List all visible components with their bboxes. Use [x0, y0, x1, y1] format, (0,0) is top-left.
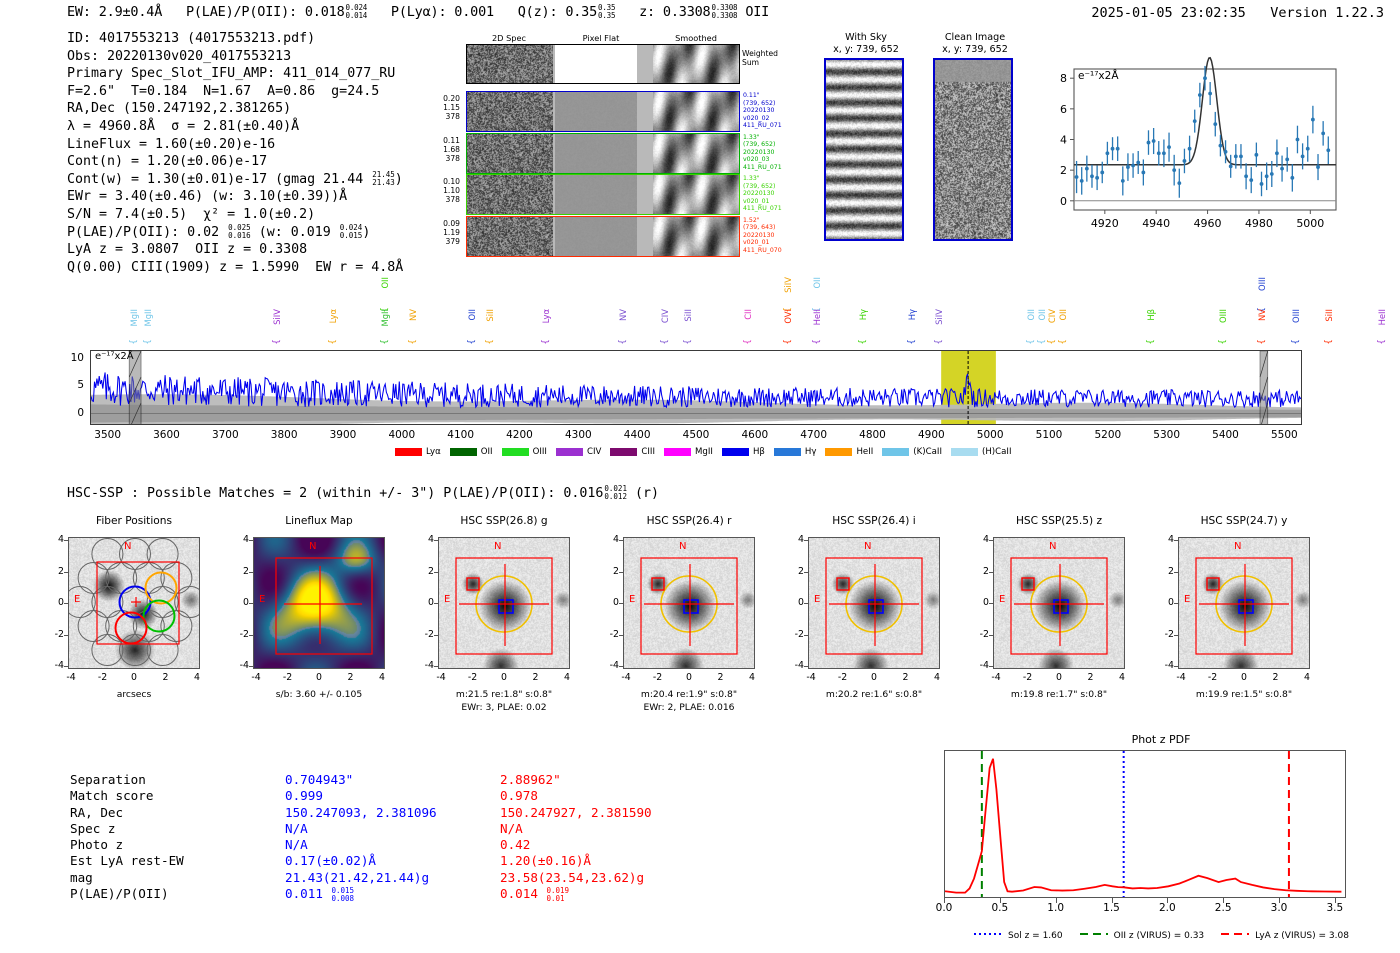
spectrum-line-brace-6: { [408, 339, 418, 345]
cutout-ytick-mark-4-4 [804, 540, 808, 541]
hsc-plae-lo: 0.012 [604, 493, 627, 501]
cutout-ytick-mark-4-3 [804, 572, 808, 573]
spectrum-line-label-OII-7: OII [467, 309, 477, 321]
cutout-caption-2: m:21.5 re:1.8" s:0.8"EWr: 3, PLAE: 0.02 [410, 688, 598, 714]
cutout-ytick-mark-1-3 [249, 572, 253, 573]
cutout-xtick-0-4: 4 [189, 672, 205, 683]
cutout-xtick-3-2: 0 [681, 672, 697, 683]
compass-north-3: N [679, 541, 686, 552]
match-blue-1: 0.999 [285, 788, 500, 804]
match-label-1: Match score [70, 788, 285, 804]
cutout-title-0: Fiber Positions [46, 515, 222, 527]
sky-panel-coords-1: x, y: 739, 652 [942, 44, 1008, 55]
cutout-ytick-mark-1-0 [249, 666, 253, 667]
legend-swatch-Hβ [722, 448, 749, 456]
legend-label-Lyα: Lyα [426, 447, 441, 457]
spectrum-xtick-4500: 4500 [683, 429, 710, 441]
cutout-ytick-5-0: -4 [971, 660, 989, 671]
spectrum-legend-item-CIV: CIV [556, 447, 601, 457]
cutout-ytick-mark-6-4 [1174, 540, 1178, 541]
full-spectrum-panel: MgII{MgII{SiIV{Lyα{OII{MgII{NV{OII{SiII{… [0, 265, 1400, 475]
match-table-row: Est LyA rest-EW0.17(±0.02)Å1.20(±0.16)Å [70, 853, 652, 869]
legend-swatch-Hγ [774, 448, 801, 456]
compass-north-5: N [1049, 541, 1056, 552]
cutout-xtick-2-2: 0 [496, 672, 512, 683]
pdf-xtick-mark-3.5 [1335, 898, 1336, 903]
spectrum-line-label-OII-21: OII [1026, 309, 1036, 321]
cutout-ytick-2-1: -2 [416, 629, 434, 640]
header-plya: P(Lyα): 0.001 [391, 4, 494, 20]
spec2d-row-1 [466, 133, 740, 174]
match-label-3: Spec z [70, 821, 285, 837]
cutout-ytick-mark-2-1 [434, 635, 438, 636]
cutout-ytick-mark-5-3 [989, 572, 993, 573]
cutout-ytick-3-3: 2 [601, 566, 619, 577]
spectrum-legend-item-OII: OII [450, 447, 493, 457]
pdf-xtick-3.5: 3.5 [1326, 902, 1343, 914]
legend-swatch-HeII [825, 448, 852, 456]
phot-z-pdf-panel: Phot z PDF 0.00.51.01.52.02.53.03.5 Sol … [930, 733, 1392, 948]
spectrum-line-label-OII-22: OII [1037, 309, 1047, 321]
spectrum-line-label-OIII-27: OIII [1257, 277, 1267, 291]
cutout-ytick-mark-6-2 [1174, 603, 1178, 604]
spectrum-line-label-NV-28: NV [1257, 309, 1267, 321]
legend-swatch-CIV [556, 448, 583, 456]
sky-panel-coords-0: x, y: 739, 652 [833, 44, 899, 55]
cutout-xtick-0-1: -2 [95, 672, 111, 683]
summary-header: EW: 2.9±0.4Å P(LAE)/P(OII): 0.0180.0240.… [67, 4, 769, 20]
cutout-ytick-mark-1-2 [249, 603, 253, 604]
spectrum-xtick-3500: 3500 [94, 429, 121, 441]
info-line-6: LineFlux = 1.60(±0.20)e-16 [67, 136, 403, 154]
cutout-caption-6: m:19.9 re:1.5" s:0.8" [1150, 688, 1338, 701]
header-qz-label: Q(z): [518, 4, 558, 20]
cutout-image-4[interactable] [808, 537, 940, 669]
spec2d-col-header-2: Smoothed [652, 33, 740, 43]
cutout-image-5[interactable] [993, 537, 1125, 669]
cutout-xtick-6-2: 0 [1236, 672, 1252, 683]
pdf-xtick-1.5: 1.5 [1103, 902, 1120, 914]
cutout-ytick-5-4: 4 [971, 534, 989, 545]
legend-swatch-Lyα [395, 448, 422, 456]
legend-label-Hβ: Hβ [753, 447, 765, 457]
cutout-ytick-mark-5-1 [989, 635, 993, 636]
spectrum-line-label-HeII-17: HeII [812, 309, 822, 325]
match-table-row: Spec zN/AN/A [70, 821, 652, 837]
spectrum-line-brace-11: { [660, 339, 670, 345]
match-red-5: 1.20(±0.16)Å [500, 853, 652, 869]
info-line-8: Cont(w) = 1.30(±0.01)e-17 (gmag 21.44 21… [67, 171, 403, 189]
cutout-xtick-4-3: 2 [898, 672, 914, 683]
spectrum-xtick-4200: 4200 [506, 429, 533, 441]
cutout-ytick-mark-3-3 [619, 572, 623, 573]
pdf-xtick-2.0: 2.0 [1159, 902, 1176, 914]
cutout-xtick-1-4: 4 [374, 672, 390, 683]
spectrum-line-brace-15: { [783, 339, 793, 345]
spec2d-weighted-sum-strip [466, 44, 740, 84]
cutout-caption-4: m:20.2 re:1.6" s:0.8" [780, 688, 968, 701]
pdf-legend-item-0: Sol z = 1.60 [973, 929, 1063, 942]
spectrum-line-brace-28: { [1257, 339, 1267, 345]
spectrum-line-label-Lyα-3: Lyα [328, 309, 338, 323]
header-z-label: z: [639, 4, 655, 20]
spectrum-line-label-OII-4: OII [380, 277, 390, 289]
match-blue-0: 0.704943" [285, 772, 500, 788]
header-z-lo: 0.3308 [711, 12, 737, 20]
spectrum-xtick-5300: 5300 [1153, 429, 1180, 441]
svg-text:4940: 4940 [1142, 217, 1170, 230]
svg-text:5000: 5000 [1296, 217, 1324, 230]
match-blue-4: N/A [285, 837, 500, 853]
header-z-value: 0.3308 [663, 4, 711, 20]
spectrum-legend-item-CIII: CIII [610, 447, 655, 457]
spectrum-ytick-10: 10 [64, 352, 84, 364]
pdf-legend-swatch-1 [1079, 929, 1109, 942]
cutout-ytick-2-4: 4 [416, 534, 434, 545]
cutout-caption-5: m:19.8 re:1.7" s:0.8" [965, 688, 1153, 701]
spec2d-row-left-label-2: 0.10 1.10 378 [414, 177, 460, 205]
spectrum-line-brace-26: { [1218, 339, 1228, 345]
match-table-row: RA, Dec150.247093, 2.381096150.247927, 2… [70, 805, 652, 821]
svg-text:4980: 4980 [1245, 217, 1273, 230]
cutout-ytick-1-4: 4 [231, 534, 249, 545]
timestamp-version: 2025-01-05 23:02:35 Version 1.22.3 [1091, 5, 1384, 21]
cutout-title-2: HSC SSP(26.8) g [416, 515, 592, 527]
cutout-ytick-mark-4-1 [804, 635, 808, 636]
spectrum-xtick-4300: 4300 [565, 429, 592, 441]
cutout-ytick-2-0: -4 [416, 660, 434, 671]
compass-east-3: E [629, 594, 635, 605]
spectrum-xtick-5500: 5500 [1271, 429, 1298, 441]
spec2d-montage: 2D SpecPixel FlatSmoothedWeighted Sum0.2… [408, 33, 758, 248]
cutout-caption1-1: s/b: 3.60 +/- 0.105 [225, 688, 413, 701]
compass-north-6: N [1234, 541, 1241, 552]
pdf-xtick-1.0: 1.0 [1047, 902, 1064, 914]
cutout-ytick-mark-3-0 [619, 666, 623, 667]
pdf-legend-swatch-2 [1220, 929, 1250, 942]
pdf-xtick-2.5: 2.5 [1215, 902, 1232, 914]
cutout-image-0[interactable] [68, 537, 200, 669]
cutout-xtick-5-1: -2 [1020, 672, 1036, 683]
cutout-ytick-mark-3-1 [619, 635, 623, 636]
cutout-ytick-mark-4-0 [804, 666, 808, 667]
compass-east-4: E [814, 594, 820, 605]
spectrum-line-label-SiIV-2: SiIV [272, 309, 282, 325]
cutout-ytick-mark-2-4 [434, 540, 438, 541]
spectrum-xtick-4000: 4000 [388, 429, 415, 441]
info-line-7: Cont(n) = 1.20(±0.06)e-17 [67, 153, 403, 171]
cutout-ytick-4-1: -2 [786, 629, 804, 640]
cutout-ytick-0-1: -2 [46, 629, 64, 640]
match-red-4: 0.42 [500, 837, 652, 853]
sky-panel-name-1: Clean Image [945, 32, 1005, 43]
spectrum-line-brace-8: { [485, 339, 495, 345]
cutout-ytick-1-0: -4 [231, 660, 249, 671]
cutout-image-2[interactable] [438, 537, 570, 669]
info-line-2: Primary Spec_Slot_IFU_AMP: 411_014_077_R… [67, 65, 403, 83]
legend-label-MgII: MgII [695, 447, 713, 457]
svg-text:e⁻¹⁷x2Å: e⁻¹⁷x2Å [1078, 69, 1119, 82]
spectrum-line-brace-21: { [1026, 339, 1036, 345]
cutout-image-6[interactable] [1178, 537, 1310, 669]
cutout-ytick-mark-6-0 [1174, 666, 1178, 667]
legend-swatch-(H)CaII [951, 448, 978, 456]
spec2d-row-right-label-3: 1.52" (739, 643) 20220130 v020_01 411_RU… [743, 217, 782, 255]
spectrum-line-brace-30: { [1324, 339, 1334, 345]
cutout-xtick-6-4: 4 [1299, 672, 1315, 683]
cutout-ytick-5-2: 0 [971, 597, 989, 608]
spectrum-line-label-CIV-23: CIV [1047, 309, 1057, 323]
cutout-xtick-2-3: 2 [528, 672, 544, 683]
cutout-ytick-5-1: -2 [971, 629, 989, 640]
compass-east-1: E [259, 594, 265, 605]
cutout-ytick-4-0: -4 [786, 660, 804, 671]
spectrum-line-brace-18: { [858, 339, 868, 345]
spectrum-line-label-CIV-11: CIV [660, 309, 670, 323]
cutout-caption1-3: m:20.4 re:1.9" s:0.8" [595, 688, 783, 701]
spec2d-row-left-label-3: 0.09 1.19 379 [414, 219, 460, 247]
cutout-caption1-6: m:19.9 re:1.5" s:0.8" [1150, 688, 1338, 701]
spec2d-col-header-0: 2D Spec [466, 33, 552, 43]
spectrum-line-brace-13: { [743, 339, 753, 345]
cutout-ytick-5-3: 2 [971, 566, 989, 577]
report-page: EW: 2.9±0.4Å P(LAE)/P(OII): 0.0180.0240.… [0, 0, 1400, 953]
cutout-ytick-6-3: 2 [1156, 566, 1174, 577]
match-blue-plae: 0.011 0.0150.008 [285, 886, 500, 903]
spec2d-row-right-label-2: 1.33" (739, 652) 20220130 v020_01 411_RU… [743, 175, 782, 213]
cutout-ytick-mark-2-2 [434, 603, 438, 604]
spectrum-line-label-Hγ-18: Hγ [858, 309, 868, 320]
spectrum-line-label-CII-13: CII [743, 309, 753, 320]
cutout-xtick-4-0: -4 [803, 672, 819, 683]
spectrum-line-label-Lyα-9: Lyα [541, 309, 551, 323]
spectrum-line-brace-29: { [1291, 339, 1301, 345]
cutout-ytick-3-1: -2 [601, 629, 619, 640]
spectrum-xtick-3800: 3800 [271, 429, 298, 441]
cutout-xtick-5-2: 0 [1051, 672, 1067, 683]
cutout-xtick-5-0: -4 [988, 672, 1004, 683]
cutout-ytick-6-4: 4 [1156, 534, 1174, 545]
svg-text:4920: 4920 [1091, 217, 1119, 230]
cutout-title-4: HSC SSP(26.4) i [786, 515, 962, 527]
cutout-caption1-0: arcsecs [40, 688, 228, 701]
header-qz-lo: 0.35 [598, 12, 615, 20]
spectrum-legend-item-(H)CaII: (H)CaII [951, 447, 1012, 457]
svg-text:0: 0 [1060, 195, 1067, 208]
cutout-title-5: HSC SSP(25.5) z [971, 515, 1147, 527]
cutout-xtick-1-2: 0 [311, 672, 327, 683]
pdf-xtick-mark-0.5 [1000, 898, 1001, 903]
hsc-title-prefix: HSC-SSP : Possible Matches = 2 (within +… [67, 486, 555, 501]
spectrum-line-label-NV-6: NV [408, 309, 418, 321]
legend-swatch-MgII [664, 448, 691, 456]
match-blue-2: 150.247093, 2.381096 [285, 805, 500, 821]
cutout-ytick-mark-3-4 [619, 540, 623, 541]
cutout-ytick-mark-0-4 [64, 540, 68, 541]
svg-text:4960: 4960 [1194, 217, 1222, 230]
cutout-xtick-0-3: 2 [158, 672, 174, 683]
spectrum-line-label-NV-10: NV [618, 309, 628, 321]
spectrum-line-label-OII-24: OII [1058, 309, 1068, 321]
spectrum-line-brace-22: { [1037, 339, 1047, 345]
spectrum-line-label-SiII-30: SiII [1324, 309, 1334, 322]
info-line-9: EWr = 3.40(±0.46) (w: 3.10(±0.39))Å [67, 188, 403, 206]
spectrum-line-label-SiII-12: SiII [683, 309, 693, 322]
spectrum-xtick-3600: 3600 [153, 429, 180, 441]
svg-text:6: 6 [1060, 103, 1067, 116]
spectrum-flux-annotation: e⁻¹⁷x2Å [95, 351, 134, 362]
legend-swatch-CIII [610, 448, 637, 456]
cutout-ytick-1-2: 0 [231, 597, 249, 608]
cutout-ytick-mark-1-1 [249, 635, 253, 636]
cutout-title-1: Lineflux Map [231, 515, 407, 527]
spectrum-xtick-5000: 5000 [977, 429, 1004, 441]
compass-east-6: E [1184, 594, 1190, 605]
cutout-ytick-3-0: -4 [601, 660, 619, 671]
cutout-xtick-6-1: -2 [1205, 672, 1221, 683]
cutout-caption1-2: m:21.5 re:1.8" s:0.8" [410, 688, 598, 701]
spectrum-legend-item-OIII: OIII [502, 447, 547, 457]
legend-label-HeII: HeII [856, 447, 873, 457]
weighted-sum-label: Weighted Sum [742, 49, 782, 67]
match-label-2: RA, Dec [70, 805, 285, 821]
spec2d-row-3 [466, 216, 740, 257]
spectrum-line-label-OVI-15: OVI [783, 309, 793, 324]
pdf-legend-item-2: LyA z (VIRUS) = 3.08 [1220, 929, 1349, 942]
spec2d-row-2 [466, 174, 740, 215]
cutout-title-3: HSC SSP(26.4) r [601, 515, 777, 527]
spectrum-line-label-MgII-1: MgII [143, 309, 153, 326]
match-label-0: Separation [70, 772, 285, 788]
cutout-ytick-0-3: 2 [46, 566, 64, 577]
version-label: Version 1.22.3 [1270, 5, 1384, 21]
cutout-ytick-4-3: 2 [786, 566, 804, 577]
pdf-xtick-mark-1.5 [1112, 898, 1113, 903]
match-red-3: N/A [500, 821, 652, 837]
pdf-xtick-mark-2.0 [1167, 898, 1168, 903]
spectrum-xtick-3700: 3700 [212, 429, 239, 441]
hsc-plae-band: (r) [635, 486, 659, 501]
cutout-xtick-3-1: -2 [650, 672, 666, 683]
spectrum-line-label-Hγ-19: Hγ [907, 309, 917, 320]
spectrum-legend-item-(K)CaII: (K)CaII [882, 447, 942, 457]
cutout-image-1[interactable] [253, 537, 385, 669]
cutout-caption-0: arcsecs [40, 688, 228, 701]
match-red-0: 2.88962" [500, 772, 652, 788]
cutout-ytick-mark-5-2 [989, 603, 993, 604]
match-red-1: 0.978 [500, 788, 652, 804]
phot-z-pdf-axes [944, 750, 1346, 898]
cutout-ytick-mark-1-4 [249, 540, 253, 541]
cutout-image-3[interactable] [623, 537, 755, 669]
spectrum-ytick-5: 5 [64, 379, 84, 391]
spectrum-axes [90, 350, 1302, 425]
info-line-10: S/N = 7.4(±0.5) χ² = 1.0(±0.2) [67, 206, 403, 224]
spectrum-line-brace-0: { [129, 339, 139, 345]
spectrum-line-brace-5: { [380, 339, 390, 345]
cutout-caption1-5: m:19.8 re:1.7" s:0.8" [965, 688, 1153, 701]
spectrum-xtick-4400: 4400 [624, 429, 651, 441]
cutout-ytick-0-2: 0 [46, 597, 64, 608]
spectrum-line-brace-7: { [467, 339, 477, 345]
cutout-ytick-mark-5-0 [989, 666, 993, 667]
phot-z-pdf-legend: Sol z = 1.60OII z (VIRUS) = 0.33LyA z (V… [930, 929, 1392, 942]
spectrum-legend-item-HeII: HeII [825, 447, 873, 457]
compass-north-0: N [124, 541, 131, 552]
match-label-4: Photo z [70, 837, 285, 853]
legend-swatch-OIII [502, 448, 529, 456]
cutout-ytick-6-1: -2 [1156, 629, 1174, 640]
spectrum-line-label-OIII-26: OIII [1218, 309, 1228, 323]
cutout-caption-1: s/b: 3.60 +/- 0.105 [225, 688, 413, 701]
cutout-ytick-mark-0-3 [64, 572, 68, 573]
spectrum-line-label-SiIV-20: SiIV [934, 309, 944, 325]
legend-label-Hγ: Hγ [805, 447, 817, 457]
spectrum-line-brace-2: { [272, 339, 282, 345]
sky-panel-title-0: With Skyx, y: 739, 652 [806, 32, 926, 56]
spectrum-line-brace-3: { [328, 339, 338, 345]
header-plae-lo: 0.014 [346, 12, 368, 20]
spectrum-legend-item-Lyα: Lyα [395, 447, 441, 457]
legend-swatch-OII [450, 448, 477, 456]
spectrum-line-brace-20: { [934, 339, 944, 345]
cutout-ytick-1-3: 2 [231, 566, 249, 577]
match-red-plae: 0.014 0.0190.01 [500, 886, 652, 903]
hsc-section-title: HSC-SSP : Possible Matches = 2 (within +… [67, 485, 659, 501]
cutout-xtick-2-0: -4 [433, 672, 449, 683]
match-table-row: P(LAE)/P(OII)0.011 0.0150.0080.014 0.019… [70, 886, 652, 903]
spectrum-legend-item-MgII: MgII [664, 447, 713, 457]
cutout-title-6: HSC SSP(24.7) y [1156, 515, 1332, 527]
spectrum-line-brace-23: { [1047, 339, 1057, 345]
spectrum-line-brace-17: { [812, 339, 822, 345]
header-z-type: OII [745, 4, 769, 20]
pdf-xtick-mark-0.0 [944, 898, 945, 903]
spectrum-line-label-MgII-0: MgII [129, 309, 139, 326]
spectrum-line-brace-31: { [1377, 339, 1387, 345]
spec2d-col-header-1: Pixel Flat [560, 33, 642, 43]
cutout-xtick-1-3: 2 [343, 672, 359, 683]
spectrum-xtick-4600: 4600 [741, 429, 768, 441]
spectrum-line-label-Hβ-25: Hβ [1146, 309, 1156, 321]
pdf-xtick-0.5: 0.5 [991, 902, 1008, 914]
match-table-row: Match score0.9990.978 [70, 788, 652, 804]
spectrum-xtick-4800: 4800 [859, 429, 886, 441]
pdf-legend-swatch-0 [973, 929, 1003, 942]
spectrum-legend-item-Hβ: Hβ [722, 447, 765, 457]
spectrum-xtick-5400: 5400 [1212, 429, 1239, 441]
pdf-xtick-mark-1.0 [1056, 898, 1057, 903]
match-red-2: 150.247927, 2.381590 [500, 805, 652, 821]
spec2d-row-0 [466, 91, 740, 132]
match-table: Separation0.704943"2.88962"Match score0.… [70, 772, 652, 903]
info-line-4: RA,Dec (150.247192,2.381265) [67, 100, 403, 118]
cutout-xtick-4-4: 4 [929, 672, 945, 683]
spectrum-line-brace-9: { [541, 339, 551, 345]
compass-east-0: E [74, 594, 80, 605]
cutout-ytick-mark-6-1 [1174, 635, 1178, 636]
pdf-legend-item-1: OII z (VIRUS) = 0.33 [1079, 929, 1205, 942]
cutout-ytick-4-2: 0 [786, 597, 804, 608]
cutout-xtick-1-1: -2 [280, 672, 296, 683]
cutout-ytick-6-0: -4 [1156, 660, 1174, 671]
spectrum-legend: LyαOIIOIIICIVCIIIMgIIHβHγHeII(K)CaII(H)C… [395, 447, 1012, 457]
cutout-ytick-mark-2-3 [434, 572, 438, 573]
cutout-caption-3: m:20.4 re:1.9" s:0.8"EWr: 2, PLAE: 0.016 [595, 688, 783, 714]
sky-panel-image-0 [824, 58, 904, 241]
legend-label-(H)CaII: (H)CaII [982, 447, 1012, 457]
spectrum-xtick-5100: 5100 [1036, 429, 1063, 441]
